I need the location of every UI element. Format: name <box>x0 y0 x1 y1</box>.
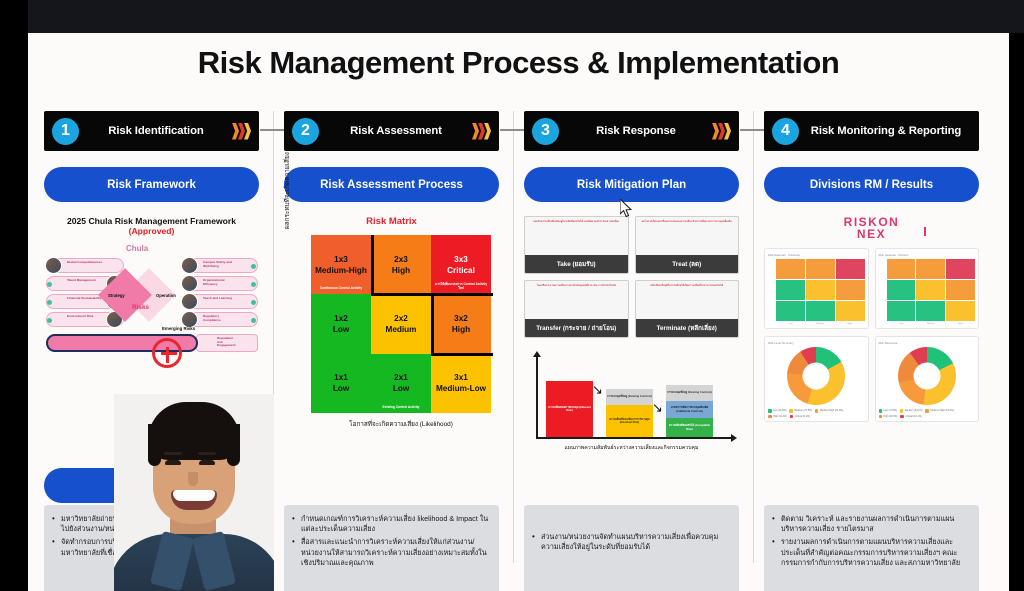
framework-graphic: 2025 Chula Risk Management Framework (Ap… <box>44 216 259 354</box>
legend-item: Low (17.8%) <box>879 409 897 413</box>
cell-sub: Continuous Control Activity <box>312 286 370 290</box>
step-header-1[interactable]: 1 Risk Identification <box>44 111 259 151</box>
bar-acceptable-risk: การควบคุมที่มีอยู่ (Existing Controls) ม… <box>666 385 713 437</box>
heatmap-xtick: Medium <box>916 323 946 325</box>
heatmap-cell <box>916 259 945 279</box>
cell-code: 2x3 <box>394 254 408 265</box>
step-label-2: Risk Assessment <box>319 125 473 137</box>
cell-level: High <box>392 265 410 276</box>
bar-residual-risk: การควบคุมที่มีอยู่ (Existing Controls) ค… <box>606 389 653 437</box>
risk-appetite-border <box>431 293 434 355</box>
heatmap-title: Risk Heatmap - University <box>768 253 865 257</box>
cell-level: Medium-High <box>315 265 367 276</box>
nose <box>188 472 198 486</box>
note-box-3: ส่วนงาน/หน่วยงานจัดทำแผนบริหารความเสี่ยง… <box>524 505 739 591</box>
treatment-label: Transfer (กระจาย / ถ่ายโอน) <box>525 319 628 337</box>
cell-sub: ควรให้เพิ่มมาตรการ Control Activity ใหม่ <box>432 282 490 290</box>
risk-appetite-border <box>371 235 374 295</box>
legend-item: Critical (10.1%) <box>900 415 921 419</box>
note-item: รายงานผลการดำเนินการตามแผนบริหารความเสี่… <box>772 537 971 568</box>
riskon-nex-logo: RISKON NEX <box>764 216 979 242</box>
donut-title: Risk Level Summary <box>768 341 865 345</box>
risk-matrix: ผลกระทบที่จะเกิดความเสี่ยง (Impact) 1x3M… <box>284 235 499 435</box>
step-label-1: Risk Identification <box>79 125 233 137</box>
framework-title-approved: (Approved) <box>129 226 175 236</box>
step-number-4: 4 <box>772 118 799 145</box>
chevron-icon <box>473 123 491 140</box>
framework-right-item-4: Reputation and Engagement <box>196 334 258 352</box>
framework-title: 2025 Chula Risk Management Framework (Ap… <box>44 216 259 236</box>
right-gutter <box>1009 33 1024 591</box>
donut-legend-0: Low (16.9%)Medium (37.8%)Medium-High (21… <box>768 409 865 418</box>
framework-avatar <box>45 257 62 274</box>
note-box-2: กำหนดเกณฑ์การวิเคราะห์ความเสี่ยง likelih… <box>284 505 499 591</box>
note-item: ส่วนงาน/หน่วยงานจัดทำแผนบริหารความเสี่ยง… <box>532 532 731 552</box>
treatment-card-take: ยอมรับความเสี่ยงที่เหลืออยู่ในระดับที่ยอ… <box>524 216 629 274</box>
cell-code: 3x3 <box>454 254 468 265</box>
treatment-card-treat: ลดโอกาสเกิดและ/หรือผลกระทบของความเสี่ยง … <box>635 216 740 274</box>
legend-item: High (14.4%) <box>768 415 787 419</box>
heatmap-cell <box>776 301 805 321</box>
risk-matrix-panel: Risk Matrix ผลกระทบที่จะเกิดความเสี่ยง (… <box>284 216 499 435</box>
step-number-1: 1 <box>52 118 79 145</box>
arrow-icon: ↘ <box>652 400 663 416</box>
framework-dot <box>251 300 256 305</box>
bar-label-existing: การควบคุมที่มีอยู่ (Existing Controls) <box>606 389 653 405</box>
column-risk-assessment: 2 Risk Assessment Risk Assessment Proces… <box>284 111 499 435</box>
riskon-logo-line2: NEX <box>764 228 979 241</box>
chevron-icon <box>233 123 251 140</box>
donut-card-1[interactable]: Risk Response Low (17.8%)Medium (34.1%)M… <box>875 336 980 422</box>
donut-legend-1: Low (17.8%)Medium (34.1%)Medium-High (19… <box>879 409 976 418</box>
heatmap-cell <box>946 259 975 279</box>
column-divider-3 <box>753 111 754 563</box>
heatmap-xtick: Low <box>776 323 806 325</box>
heatmap-cell <box>836 280 865 300</box>
plus-circle-icon <box>152 338 182 368</box>
diamond-label-strategy: Strategy <box>108 293 125 298</box>
cell-code: 3x1 <box>454 372 468 383</box>
cell-level: Low <box>333 383 349 394</box>
heatmap-xtick: High <box>835 323 865 325</box>
eye-left <box>165 460 181 465</box>
treatment-cards: ยอมรับความเสี่ยงที่เหลืออยู่ในระดับที่ยอ… <box>524 216 739 338</box>
note-item: กำหนดเกณฑ์การวิเคราะห์ความเสี่ยง likelih… <box>292 514 491 534</box>
diagram-caption: แผนภาพความสัมพันธ์ระหว่างความเสี่ยงและกิ… <box>524 444 739 452</box>
heatmap-cell <box>836 301 865 321</box>
diagram-y-axis <box>536 356 538 438</box>
arrow-icon: ↘ <box>592 382 603 398</box>
cell-level: Medium <box>386 324 417 335</box>
legend-item: Medium (34.1%) <box>900 409 923 413</box>
heatmap-title: Risk Heatmap - Division <box>879 253 976 257</box>
heatmap-card-university[interactable]: Risk Heatmap - University LowMediumHigh <box>764 248 869 329</box>
step-connector-3 <box>740 129 765 131</box>
framework-diagram: Chula Global Competitiveness Talent Mana… <box>44 242 259 354</box>
framework-avatar <box>181 257 198 274</box>
column-risk-monitoring: 4 Risk Monitoring & Reporting Divisions … <box>764 111 979 422</box>
step-header-2[interactable]: 2 Risk Assessment <box>284 111 499 151</box>
risk-matrix-cell-1x1: 1x1Low <box>311 354 371 413</box>
bar-label-additional: มาตรการเพิ่มการควบคุมเพิ่มเติม (Addition… <box>666 401 713 418</box>
risk-matrix-cell-3x3: 3x3Criticalควรให้เพิ่มมาตรการ Control Ac… <box>431 235 491 294</box>
risk-matrix-x-axis-label: โอกาสที่จะเกิดความเสี่ยง (Likelihood) <box>311 419 491 429</box>
diamond-label-operation: Operation <box>156 293 176 298</box>
heatmap-grid-1 <box>887 259 976 321</box>
risk-control-diagram: ความเสี่ยงก่อนการควบคุม (Inherent Risk) … <box>524 354 739 458</box>
heatmap-cell <box>887 280 916 300</box>
framework-dot <box>251 282 256 287</box>
mitigation-panel: ยอมรับความเสี่ยงที่เหลืออยู่ในระดับที่ยอ… <box>524 216 739 458</box>
heatmap-xtick: High <box>946 323 976 325</box>
bar-label-inherent: ความเสี่ยงก่อนการควบคุม (Inherent Risk) <box>546 381 593 437</box>
heatmap-cell <box>836 259 865 279</box>
framework-dot <box>251 264 256 269</box>
heatmap-cell <box>946 280 975 300</box>
cell-sub: Existing Control Activity <box>372 405 430 409</box>
button-risk-mitigation-plan[interactable]: Risk Mitigation Plan <box>524 167 739 202</box>
treatment-desc: หลีกเลี่ยงหรือยุติกิจกรรมที่ก่อให้เกิดคว… <box>636 281 739 319</box>
donut-title: Risk Response <box>879 341 976 345</box>
cell-code: 1x1 <box>334 372 348 383</box>
riskon-dashboards: RISKON NEX Risk Heatmap - University Low… <box>764 216 979 422</box>
cell-code: 3x2 <box>454 313 468 324</box>
risk-matrix-grid: 1x3Medium-HighContinuous Control Activit… <box>311 235 491 413</box>
risk-matrix-cell-1x2: 1x2Low <box>311 294 371 353</box>
person-icon <box>918 215 931 237</box>
diagram-x-axis <box>536 437 732 439</box>
heatmap-xtick: Medium <box>806 323 836 325</box>
column-divider-2 <box>513 111 514 563</box>
heatmap-cell <box>806 280 835 300</box>
treatment-label: Terminate (หลีกเลี่ยง) <box>636 319 739 337</box>
button-risk-framework[interactable]: Risk Framework <box>44 167 259 202</box>
heatmap-cell <box>887 301 916 321</box>
note-item: สื่อสารและแนะนำการวิเคราะห์ความเสี่ยงให้… <box>292 537 491 568</box>
donut-row: Risk Level Summary Low (16.9%)Medium (37… <box>764 336 979 422</box>
framework-dot <box>47 318 52 323</box>
presentation-topbar <box>28 0 1024 33</box>
step-label-4: Risk Monitoring & Reporting <box>799 125 973 137</box>
bar-label-residual: ความเสี่ยงที่คงเหลือจากการควบคุม (Residu… <box>606 405 653 437</box>
hair <box>148 402 240 460</box>
treatment-desc: ยอมรับความเสี่ยงที่เหลืออยู่ในระดับที่ยอ… <box>525 217 628 255</box>
treatment-card-transfer: โอนหรือกระจายความเสี่ยงบางส่วนไปยังบุคคล… <box>524 280 629 338</box>
risk-matrix-title: Risk Matrix <box>284 216 499 227</box>
step-connector-2 <box>500 129 525 131</box>
framework-dot <box>251 318 256 323</box>
legend-item: Medium (37.8%) <box>789 409 812 413</box>
bar-label-acceptable: ความเสี่ยงที่ยอมรับได้ (Acceptable Risk) <box>666 418 713 437</box>
column-risk-response: 3 Risk Response Risk Mitigation Plan ยอม… <box>524 111 739 458</box>
heatmap-grid-0 <box>776 259 865 321</box>
cell-level: Low <box>393 383 409 394</box>
cell-code: 1x3 <box>334 254 348 265</box>
note-box-4: ติดตาม วิเคราะห์ และรายงานผลการดำเนินการ… <box>764 505 979 591</box>
heatmap-card-division[interactable]: Risk Heatmap - Division LowMediumHigh <box>875 248 980 329</box>
emerging-risks-label: Emerging Risks <box>162 326 195 331</box>
step-number-3: 3 <box>532 118 559 145</box>
risk-matrix-cell-2x2: 2x2Medium <box>371 294 431 353</box>
button-divisions-rm-results[interactable]: Divisions RM / Results <box>764 167 979 202</box>
donut-card-0[interactable]: Risk Level Summary Low (16.9%)Medium (37… <box>764 336 869 422</box>
donut-chart-1 <box>898 347 956 405</box>
heatmap-row: Risk Heatmap - University LowMediumHigh … <box>764 248 979 329</box>
risk-matrix-cell-2x3: 2x3High <box>371 235 431 294</box>
step-number-2: 2 <box>292 118 319 145</box>
button-risk-assessment-process[interactable]: Risk Assessment Process <box>284 167 499 202</box>
step-header-4[interactable]: 4 Risk Monitoring & Reporting <box>764 111 979 151</box>
heatmap-cell <box>916 301 945 321</box>
risk-appetite-border <box>431 353 493 356</box>
chula-logo: Chula <box>126 244 148 253</box>
center-label-risks: Risks <box>132 304 149 311</box>
framework-dot <box>47 300 52 305</box>
treatment-desc: ลดโอกาสเกิดและ/หรือผลกระทบของความเสี่ยง … <box>636 217 739 255</box>
framework-avatar <box>181 275 198 292</box>
eye-right <box>199 460 215 465</box>
treatment-card-terminate: หลีกเลี่ยงหรือยุติกิจกรรมที่ก่อให้เกิดคว… <box>635 280 740 338</box>
heatmap-xtick: Low <box>887 323 917 325</box>
cell-level: Critical <box>447 265 475 276</box>
mouse-cursor <box>620 199 633 218</box>
legend-item: Medium-High (21.8%) <box>815 409 843 413</box>
cell-code: 2x1 <box>394 372 408 383</box>
mouth <box>171 490 217 510</box>
heatmap-cell <box>946 301 975 321</box>
heatmap-xticks-0: LowMediumHigh <box>776 323 865 325</box>
risk-matrix-cell-2x1: 2x1LowExisting Control Activity <box>371 354 431 413</box>
screen-capture: Risk Management Process & Implementation… <box>0 0 1024 591</box>
risk-matrix-cell-3x2: 3x2High <box>431 294 491 353</box>
heatmap-cell <box>806 301 835 321</box>
chevron-icon <box>713 123 731 140</box>
legend-item: Critical (9.1%) <box>790 415 810 419</box>
heatmap-cell <box>806 259 835 279</box>
note-item: ติดตาม วิเคราะห์ และรายงานผลการดำเนินการ… <box>772 514 971 534</box>
heatmap-xticks-1: LowMediumHigh <box>887 323 976 325</box>
bar-label-existing-2: การควบคุมที่มีอยู่ (Existing Controls) <box>666 385 713 401</box>
column-risk-identification: 1 Risk Identification Risk Framework 202… <box>44 111 259 354</box>
heatmap-cell <box>916 280 945 300</box>
step-header-3[interactable]: 3 Risk Response <box>524 111 739 151</box>
treatment-desc: โอนหรือกระจายความเสี่ยงบางส่วนไปยังบุคคล… <box>525 281 628 319</box>
page-title: Risk Management Process & Implementation <box>28 45 1009 81</box>
slide-canvas: Risk Management Process & Implementation… <box>28 33 1009 591</box>
risk-matrix-cell-3x1: 3x1Medium-Low <box>431 354 491 413</box>
heatmap-cell <box>776 280 805 300</box>
framework-avatar <box>181 293 198 310</box>
treatment-label: Treat (ลด) <box>636 255 739 273</box>
legend-item: Low (16.9%) <box>768 409 786 413</box>
cell-level: High <box>452 324 470 335</box>
legend-item: High (18.6%) <box>879 415 898 419</box>
legend-item: Medium-High (19.4%) <box>925 409 953 413</box>
treatment-label: Take (ยอมรับ) <box>525 255 628 273</box>
risk-matrix-y-axis-label: ผลกระทบที่จะเกิดความเสี่ยง (Impact) <box>282 103 292 253</box>
donut-chart-0 <box>787 347 845 405</box>
framework-title-main: 2025 Chula Risk Management Framework <box>67 216 236 226</box>
framework-dot <box>47 282 52 287</box>
heatmap-cell <box>887 259 916 279</box>
heatmap-cell <box>776 259 805 279</box>
cell-level: Medium-Low <box>436 383 486 394</box>
cell-code: 2x2 <box>394 313 408 324</box>
webcam-overlay[interactable] <box>114 394 274 591</box>
bar-inherent-risk: ความเสี่ยงก่อนการควบคุม (Inherent Risk) <box>546 381 593 437</box>
cell-level: Low <box>333 324 349 335</box>
step-label-3: Risk Response <box>559 125 713 137</box>
cell-code: 1x2 <box>334 313 348 324</box>
risk-matrix-cell-1x3: 1x3Medium-HighContinuous Control Activit… <box>311 235 371 294</box>
